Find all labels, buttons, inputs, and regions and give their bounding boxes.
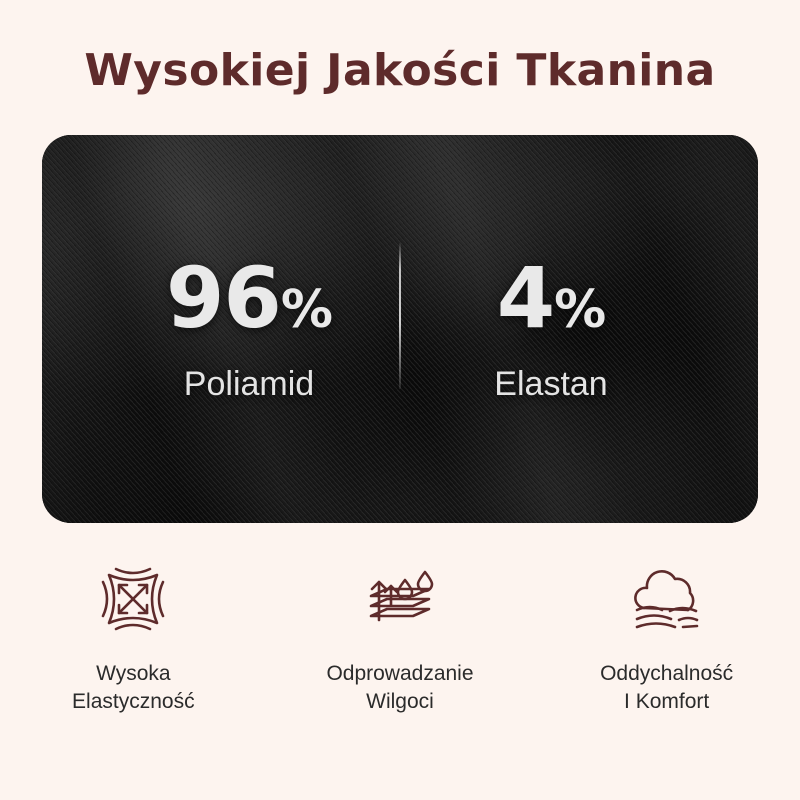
feature-item-breathability: Oddychalność I Komfort [547, 560, 787, 716]
feature-item-elasticity: Wysoka Elastyczność [13, 560, 253, 716]
feature-caption-moisture-wicking: Odprowadzanie Wilgoci [326, 660, 473, 716]
stat-elastan-number: 4 [497, 249, 554, 347]
fabric-quality-infographic: Wysokiej Jakości Tkanina 96% Poliamid 4%… [0, 0, 800, 800]
stat-poliamid-label: Poliamid [99, 364, 399, 404]
stat-elastan-value: 4% [401, 254, 701, 354]
feature-item-moisture-wicking: Odprowadzanie Wilgoci [280, 560, 520, 716]
feature-list: Wysoka Elastyczność [0, 560, 800, 716]
stat-poliamid-percent-symbol: % [281, 280, 332, 340]
stat-elastan: 4% Elastan [401, 254, 701, 404]
moisture-wicking-layers-icon [361, 560, 439, 638]
page-title: Wysokiej Jakości Tkanina [0, 40, 800, 102]
stat-elastan-label: Elastan [401, 364, 701, 404]
stat-poliamid-value: 96% [99, 254, 399, 354]
stat-elastan-percent-symbol: % [554, 280, 605, 340]
fabric-composition-panel: 96% Poliamid 4% Elastan [42, 135, 758, 523]
stat-poliamid-number: 96 [166, 249, 281, 347]
feature-caption-breathability: Oddychalność I Komfort [600, 660, 733, 716]
breathability-cloud-airflow-icon [628, 560, 706, 638]
stretch-elasticity-icon [94, 560, 172, 638]
feature-caption-elasticity: Wysoka Elastyczność [72, 660, 195, 716]
stat-poliamid: 96% Poliamid [99, 254, 399, 404]
composition-stats-row: 96% Poliamid 4% Elastan [42, 135, 758, 523]
